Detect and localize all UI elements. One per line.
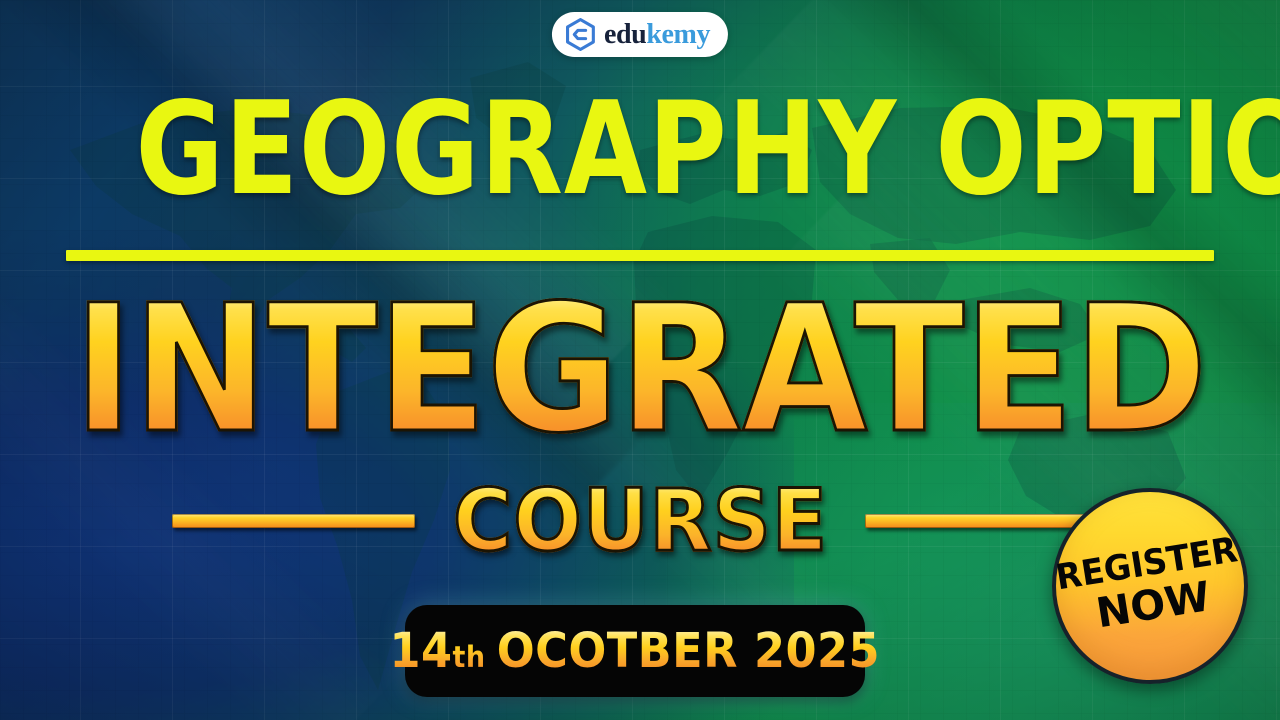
date-ordinal: th <box>453 643 486 672</box>
hexagon-e-icon <box>564 18 597 51</box>
brand-logo[interactable]: edukemy <box>552 12 728 57</box>
promotional-banner: edukemy GEOGRAPHY OPTIONAL INTEGRATED CO… <box>0 0 1280 720</box>
register-now-button[interactable]: REGISTER NOW <box>1052 488 1248 684</box>
headline-text: GEOGRAPHY OPTIONAL <box>136 86 1280 214</box>
date-day: 14 <box>390 627 453 675</box>
headline: GEOGRAPHY OPTIONAL <box>0 86 1280 214</box>
brand-name-edu: edu <box>604 19 646 50</box>
course-title-main: INTEGRATED <box>73 282 1206 458</box>
brand-name: edukemy <box>604 21 710 49</box>
date-text: 14thOCOTBER 2025 <box>390 627 881 675</box>
date-month-year: OCOTBER 2025 <box>497 627 880 675</box>
course-title-main-wrap: INTEGRATED <box>0 282 1280 458</box>
date-badge: 14thOCOTBER 2025 <box>405 605 865 697</box>
register-now-label: REGISTER NOW <box>1049 532 1252 640</box>
brand-name-kemy: kemy <box>646 19 710 50</box>
yellow-divider-rule <box>66 250 1214 261</box>
orange-rule-left <box>172 514 415 528</box>
course-title-sub: COURSE <box>452 478 827 564</box>
